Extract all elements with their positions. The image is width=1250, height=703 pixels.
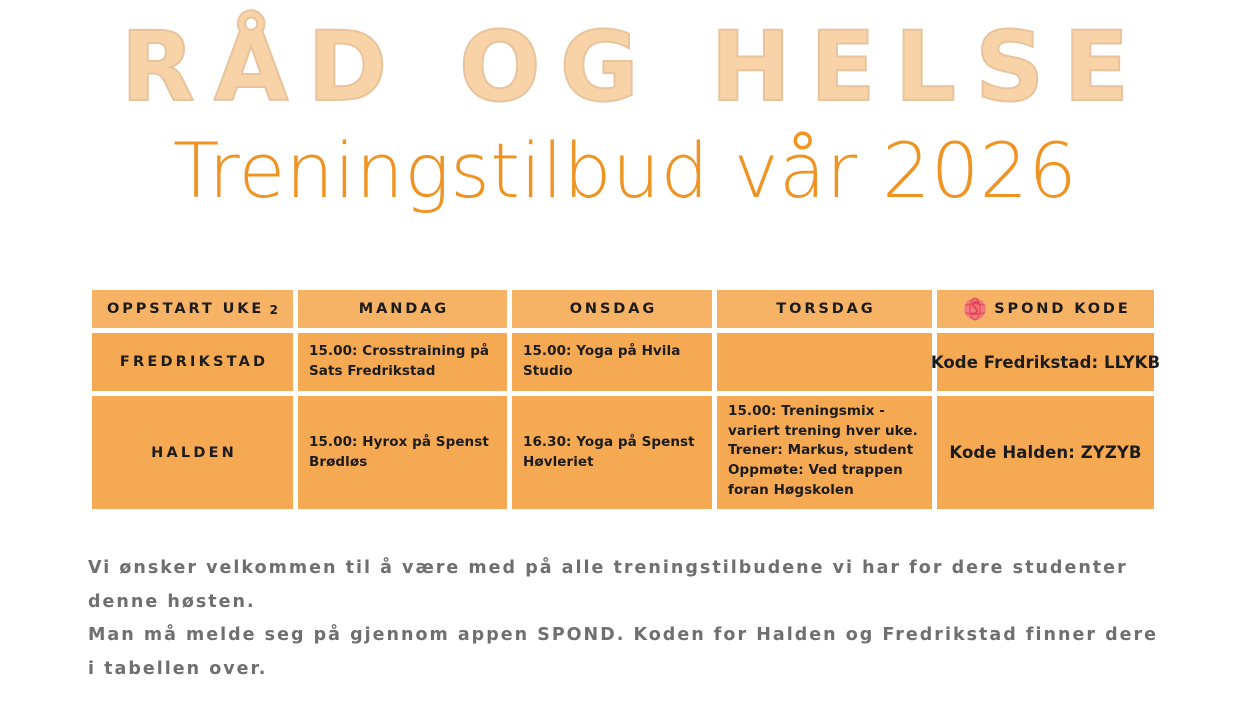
column-header-mandag-label: MANDAG: [359, 301, 449, 317]
footer-text-block: Vi ønsker velkommen til å være med på al…: [88, 552, 1173, 686]
cell-fredrikstad-onsdag-text: 15.00: Yoga på Hvila Studio: [512, 333, 712, 391]
column-header-torsdag-label: TORSDAG: [776, 301, 875, 317]
cell-halden-spond-code: Kode Halden: ZYZYB: [937, 396, 1154, 509]
cell-halden-torsdag-text: 15.00: Treningsmix - variert trening hve…: [717, 390, 932, 515]
cell-fredrikstad-spond-code: Kode Fredrikstad: LLYKB: [937, 333, 1154, 391]
column-header-oppstart-label: OPPSTART UKE: [107, 301, 264, 317]
cell-fredrikstad-spond-code-text: Kode Fredrikstad: LLYKB: [937, 333, 1154, 391]
column-header-spond-label: SPOND KODE: [994, 301, 1130, 317]
spond-logo-icon: [963, 297, 987, 321]
column-header-mandag: MANDAG: [298, 290, 507, 328]
column-header-oppstart: OPPSTART UKE 2: [92, 290, 293, 328]
column-header-onsdag-label: ONSDAG: [570, 301, 657, 317]
cell-halden-mandag: 15.00: Hyrox på Spenst Brødløs: [298, 396, 507, 509]
row-city-fredrikstad-label: FREDRIKSTAD: [92, 333, 293, 391]
table-header-row: OPPSTART UKE 2 MANDAG ONSDAG TORSDAG: [92, 290, 1154, 328]
row-city-halden-label: HALDEN: [92, 396, 293, 509]
row-city-fredrikstad: FREDRIKSTAD: [92, 333, 293, 391]
page-title: RÅD OG HELSE: [0, 14, 1250, 122]
column-header-torsdag: TORSDAG: [717, 290, 932, 328]
cell-fredrikstad-torsdag: [717, 333, 932, 391]
cell-halden-torsdag: 15.00: Treningsmix - variert trening hve…: [717, 396, 932, 509]
cell-halden-onsdag-text: 16.30: Yoga på Spenst Høvleriet: [512, 396, 712, 509]
cell-fredrikstad-mandag-text: 15.00: Crosstraining på Sats Fredrikstad: [298, 333, 507, 391]
cell-halden-onsdag: 16.30: Yoga på Spenst Høvleriet: [512, 396, 712, 509]
table-row: HALDEN 15.00: Hyrox på Spenst Brødløs 16…: [92, 396, 1154, 509]
cell-fredrikstad-onsdag: 15.00: Yoga på Hvila Studio: [512, 333, 712, 391]
table-row: FREDRIKSTAD 15.00: Crosstraining på Sats…: [92, 333, 1154, 391]
page-subtitle: Treningstilbud vår 2026: [0, 129, 1250, 213]
footer-paragraph-2: Man må melde seg på gjennom appen SPOND.…: [88, 619, 1173, 686]
cell-fredrikstad-mandag: 15.00: Crosstraining på Sats Fredrikstad: [298, 333, 507, 391]
training-schedule-table: OPPSTART UKE 2 MANDAG ONSDAG TORSDAG: [87, 285, 1159, 514]
row-city-halden: HALDEN: [92, 396, 293, 509]
column-header-week-number: 2: [270, 303, 281, 317]
column-header-onsdag: ONSDAG: [512, 290, 712, 328]
footer-paragraph-1: Vi ønsker velkommen til å være med på al…: [88, 552, 1173, 619]
cell-halden-mandag-text: 15.00: Hyrox på Spenst Brødløs: [298, 396, 507, 509]
cell-fredrikstad-torsdag-text: [717, 333, 932, 391]
column-header-spond-kode: SPOND KODE: [937, 290, 1154, 328]
cell-halden-spond-code-text: Kode Halden: ZYZYB: [937, 396, 1154, 509]
poster-header: RÅD OG HELSE: [0, 14, 1250, 122]
